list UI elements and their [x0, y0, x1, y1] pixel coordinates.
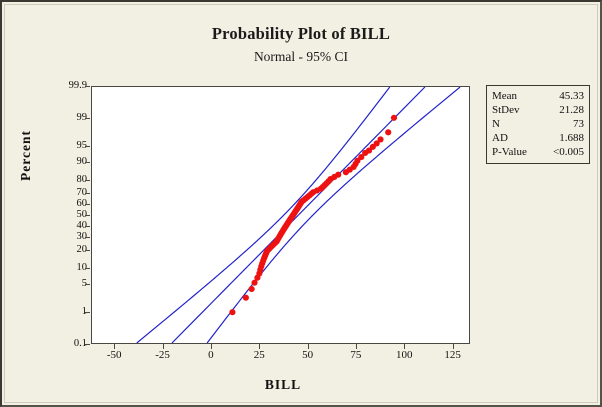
statistic-value: 45.33	[541, 89, 584, 103]
window-inner-frame: Probability Plot of BILL Normal - 95% CI…	[4, 4, 598, 403]
y-tick-mark	[85, 180, 90, 181]
x-tick-label: 125	[444, 349, 461, 361]
ci-upper-band	[207, 87, 460, 343]
statistics-row: N73	[492, 117, 584, 131]
statistic-value: <0.005	[541, 145, 584, 159]
y-tick-mark	[85, 193, 90, 194]
y-tick-mark	[85, 312, 90, 313]
chart-subtitle: Normal - 95% CI	[5, 49, 597, 65]
y-tick-mark	[85, 86, 90, 87]
x-tick-label: -25	[155, 349, 170, 361]
statistics-box: Mean45.33StDev21.28N73AD1.688P-Value<0.0…	[486, 85, 590, 164]
y-tick-mark	[85, 250, 90, 251]
statistic-value: 21.28	[541, 103, 584, 117]
y-tick-mark	[85, 146, 90, 147]
page-title: Probability Plot of BILL	[5, 24, 597, 44]
statistics-row: StDev21.28	[492, 103, 584, 117]
x-tick-label: 0	[208, 349, 214, 361]
y-tick-mark	[85, 118, 90, 119]
y-tick-mark	[85, 204, 90, 205]
y-axis-tick-labels: 99.99995908070605040302010510.1	[49, 86, 87, 344]
x-tick-mark	[356, 344, 357, 349]
probability-plot-window: Probability Plot of BILL Normal - 95% CI…	[0, 0, 602, 407]
statistics-row: P-Value<0.005	[492, 145, 584, 159]
statistic-label: Mean	[492, 89, 541, 103]
plot-canvas	[92, 87, 469, 343]
y-axis-title: Percent	[18, 161, 34, 181]
x-tick-mark	[259, 344, 260, 349]
x-tick-mark	[453, 344, 454, 349]
x-axis-tick-labels: -50-250255075100125	[91, 349, 470, 367]
statistic-value: 1.688	[541, 131, 584, 145]
x-tick-mark	[163, 344, 164, 349]
x-tick-label: 50	[302, 349, 313, 361]
x-tick-mark	[211, 344, 212, 349]
y-tick-mark	[85, 237, 90, 238]
x-tick-label: -50	[107, 349, 122, 361]
ci-lower-band	[137, 87, 390, 343]
normal-fit-line	[172, 87, 425, 343]
statistic-label: N	[492, 117, 541, 131]
x-tick-label: 100	[396, 349, 413, 361]
y-tick-mark	[85, 162, 90, 163]
statistic-label: StDev	[492, 103, 541, 117]
x-tick-label: 75	[350, 349, 361, 361]
statistic-label: AD	[492, 131, 541, 145]
y-tick-mark	[85, 344, 90, 345]
plot-area	[91, 86, 470, 344]
y-tick-mark	[85, 268, 90, 269]
statistic-label: P-Value	[492, 145, 541, 159]
statistics-row: AD1.688	[492, 131, 584, 145]
statistic-value: 73	[541, 117, 584, 131]
x-tick-mark	[404, 344, 405, 349]
x-tick-mark	[308, 344, 309, 349]
x-tick-label: 25	[254, 349, 265, 361]
y-tick-mark	[85, 284, 90, 285]
x-axis-title: BILL	[93, 377, 473, 393]
statistics-table: Mean45.33StDev21.28N73AD1.688P-Value<0.0…	[492, 89, 584, 159]
x-tick-mark	[114, 344, 115, 349]
y-tick-mark	[85, 226, 90, 227]
statistics-row: Mean45.33	[492, 89, 584, 103]
y-tick-mark	[85, 215, 90, 216]
